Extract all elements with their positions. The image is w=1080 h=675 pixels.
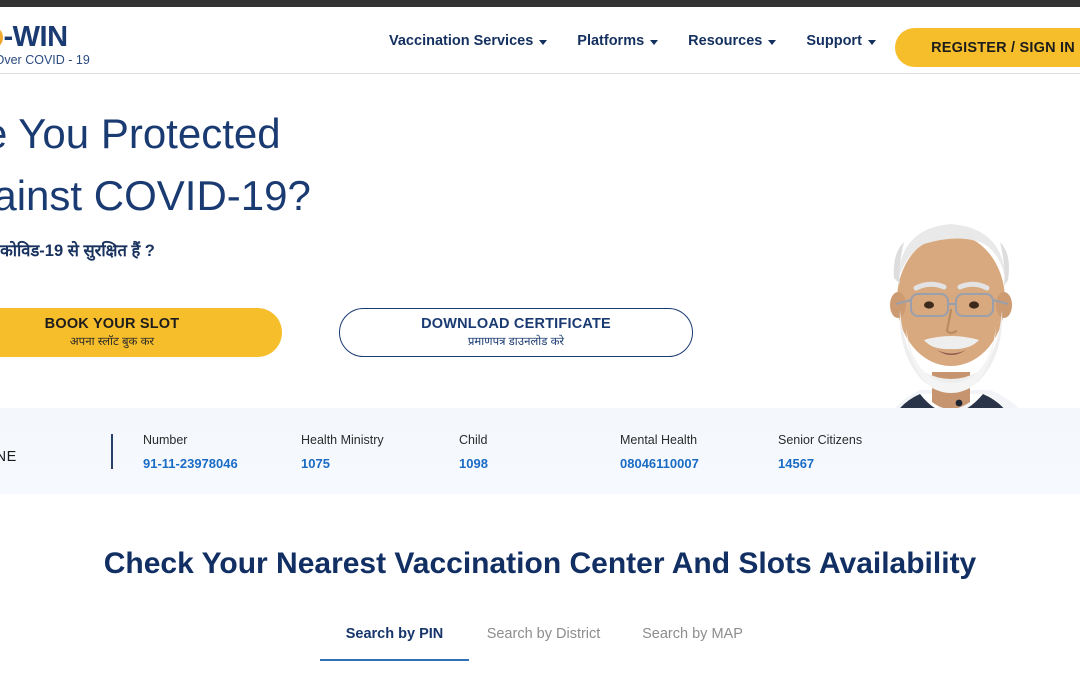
helpline-item-value[interactable]: 91-11-23978046 [143, 456, 301, 471]
download-certificate-button[interactable]: DOWNLOAD CERTIFICATE प्रमाणपत्र डाउनलोड … [339, 308, 693, 357]
search-tabs: Search by PIN Search by District Search … [320, 626, 767, 661]
prime-minister-portrait [820, 150, 1080, 408]
search-section: Check Your Nearest Vaccination Center An… [0, 494, 1080, 675]
logo-text-suffix: -WIN [4, 23, 68, 52]
hero-section: Are You Protected Against COVID-19? क्या… [0, 75, 1080, 408]
chevron-down-icon [650, 40, 658, 45]
helpline-item-value[interactable]: 08046110007 [620, 456, 778, 471]
helpline-items: Number 91-11-23978046 Health Ministry 10… [143, 433, 936, 471]
book-your-slot-button[interactable]: BOOK YOUR SLOT अपना स्लॉट बुक कर [0, 308, 282, 357]
cowin-landing-page: CO -WIN Winning Over COVID - 19 Vaccinat… [0, 0, 1080, 675]
top-accent-strip [0, 0, 1080, 7]
helpline-item-title: Child [459, 433, 620, 447]
main-navigation: Vaccination Services Platforms Resources… [389, 33, 906, 49]
helpline-item-value[interactable]: 14567 [778, 456, 936, 471]
helpline-item-value[interactable]: 1098 [459, 456, 620, 471]
hero-title: Are You Protected Against COVID-19? [0, 103, 311, 227]
hero-cta-row: BOOK YOUR SLOT अपना स्लॉट बुक कर DOWNLOA… [0, 308, 693, 357]
search-section-heading: Check Your Nearest Vaccination Center An… [0, 547, 1080, 581]
logo-tagline: Winning Over COVID - 19 [0, 53, 90, 67]
nav-item-support[interactable]: Support [806, 33, 876, 49]
helpline-item-title: Health Ministry [301, 433, 459, 447]
helpline-item-child: Child 1098 [459, 433, 620, 471]
download-certificate-label-hi: प्रमाणपत्र डाउनलोड करे [468, 336, 564, 349]
helpline-item-title: Number [143, 433, 301, 447]
helpline-band: HELPLINE Number 91-11-23978046 Health Mi… [0, 408, 1080, 494]
helpline-divider [111, 434, 113, 469]
tab-search-by-district[interactable]: Search by District [469, 626, 618, 661]
nav-label: Support [806, 33, 862, 49]
register-sign-in-button[interactable]: REGISTER / SIGN IN [895, 28, 1080, 67]
download-certificate-label-en: DOWNLOAD CERTIFICATE [421, 317, 611, 333]
site-header: CO -WIN Winning Over COVID - 19 Vaccinat… [0, 7, 1080, 74]
helpline-label: HELPLINE [0, 449, 17, 465]
tab-search-by-map[interactable]: Search by MAP [618, 626, 767, 661]
helpline-item-value[interactable]: 1075 [301, 456, 459, 471]
helpline-item-mental-health: Mental Health 08046110007 [620, 433, 778, 471]
helpline-item-senior-citizens: Senior Citizens 14567 [778, 433, 936, 471]
book-slot-label-en: BOOK YOUR SLOT [45, 317, 180, 333]
helpline-item-number: Number 91-11-23978046 [143, 433, 301, 471]
nav-label: Platforms [577, 33, 644, 49]
plus-circle-icon [0, 26, 3, 49]
hero-title-line-2: Against COVID-19? [0, 165, 311, 227]
nav-item-resources[interactable]: Resources [688, 33, 776, 49]
chevron-down-icon [768, 40, 776, 45]
nav-label: Vaccination Services [389, 33, 533, 49]
nav-item-vaccination-services[interactable]: Vaccination Services [389, 33, 547, 49]
nav-label: Resources [688, 33, 762, 49]
helpline-item-title: Senior Citizens [778, 433, 936, 447]
tab-search-by-pin[interactable]: Search by PIN [320, 626, 469, 661]
cowin-logo[interactable]: CO -WIN Winning Over COVID - 19 [0, 17, 144, 69]
nav-item-platforms[interactable]: Platforms [577, 33, 658, 49]
helpline-item-health-ministry: Health Ministry 1075 [301, 433, 459, 471]
helpline-item-title: Mental Health [620, 433, 778, 447]
logo-mark: CO -WIN [0, 23, 68, 52]
hero-title-line-1: Are You Protected [0, 103, 311, 165]
hero-subtitle-hindi: क्या आप कोविड-19 से सुरक्षित हैं ? [0, 238, 155, 261]
chevron-down-icon [868, 40, 876, 45]
chevron-down-icon [539, 40, 547, 45]
book-slot-label-hi: अपना स्लॉट बुक कर [70, 336, 154, 349]
